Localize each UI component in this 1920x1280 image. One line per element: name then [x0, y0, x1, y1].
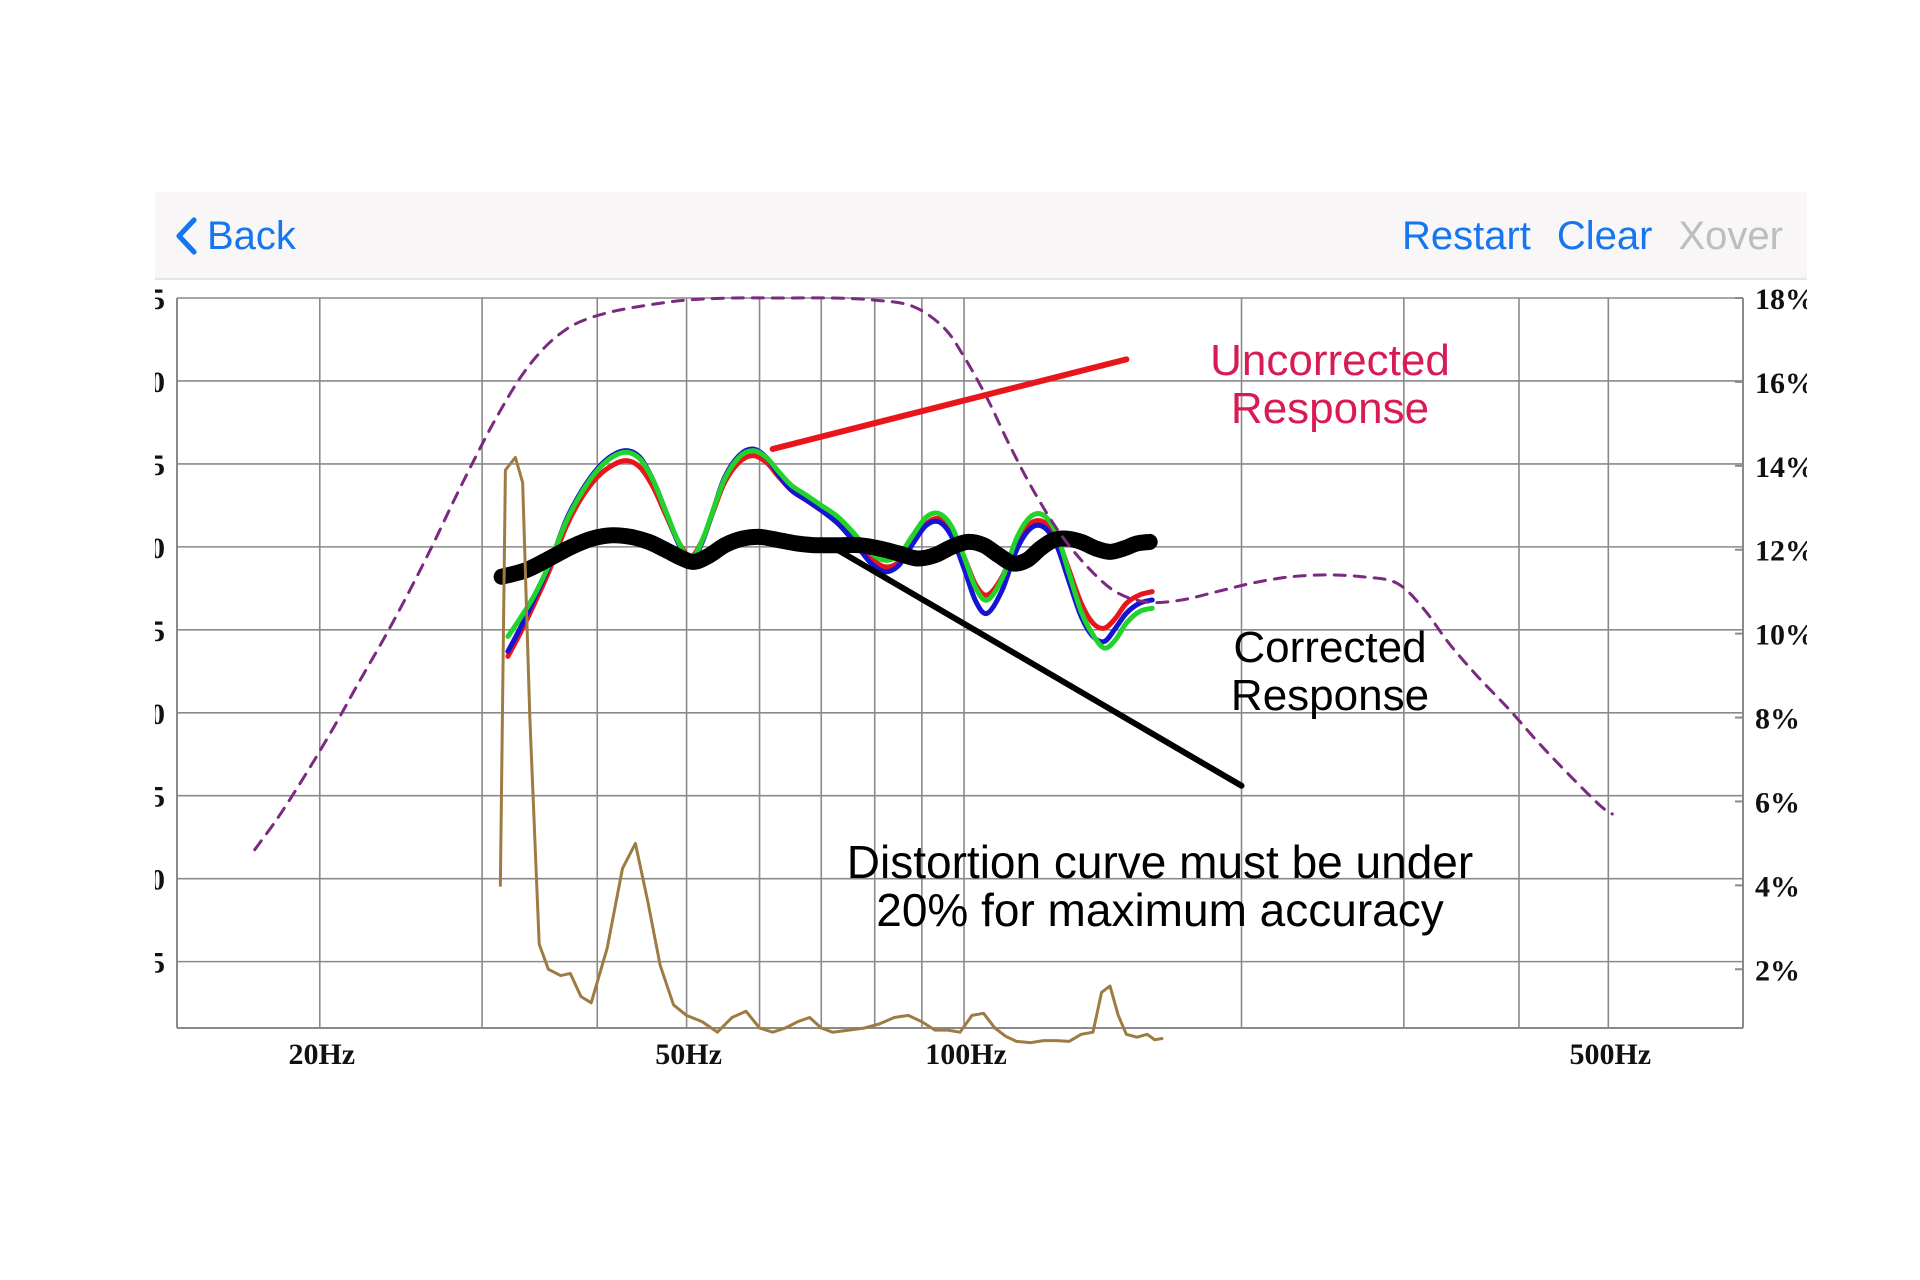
- y-axis-left-tick: 5: [155, 449, 165, 482]
- y-axis-right-tick: 18%: [1755, 283, 1807, 316]
- y-axis-right-tick: 6%: [1755, 786, 1800, 819]
- y-axis-right-tick: 14%: [1755, 451, 1807, 484]
- y-axis-right-tick: 8%: [1755, 703, 1800, 736]
- y-axis-left-tick: 10: [155, 366, 165, 399]
- x-axis-tick: 100Hz: [925, 1038, 1007, 1071]
- y-axis-left-tick: -10: [155, 698, 165, 731]
- x-axis-tick: 20Hz: [288, 1038, 355, 1071]
- y-axis-left-tick: -25: [155, 947, 165, 980]
- y-axis-left-tick: 15: [155, 283, 165, 316]
- back-button[interactable]: Back: [175, 192, 296, 280]
- series-corrected-response: [502, 535, 1150, 577]
- distortion-caption-line2: 20% for maximum accuracy: [876, 884, 1444, 936]
- uncorrected-response-label-line2: Response: [1231, 384, 1429, 433]
- chart-canvas: 151050-5-10-15-20-25 18%16%14%12%10%8%6%…: [155, 280, 1807, 1082]
- back-button-label: Back: [207, 216, 296, 256]
- audio-eq-screen: Back Restart Clear Xover 151050-5-10-15-…: [155, 192, 1807, 1082]
- y-axis-right-tick: 10%: [1755, 619, 1807, 652]
- navigation-bar: Back Restart Clear Xover: [155, 192, 1807, 280]
- corrected-response-label-line1: Corrected: [1233, 623, 1426, 672]
- x-axis-labels: 20Hz50Hz100Hz500Hz: [288, 1038, 1651, 1071]
- y-axis-left-labels: 151050-5-10-15-20-25: [155, 283, 165, 980]
- y-axis-left-tick: -15: [155, 781, 165, 814]
- clear-button[interactable]: Clear: [1557, 216, 1653, 256]
- x-axis-tick: 50Hz: [655, 1038, 722, 1071]
- y-axis-left-tick: -20: [155, 864, 165, 897]
- uncorrected-pointer: [773, 359, 1127, 449]
- y-axis-left-tick: -5: [155, 615, 165, 648]
- y-axis-left-tick: 0: [155, 532, 165, 565]
- x-axis-tick: 500Hz: [1569, 1038, 1651, 1071]
- xover-button[interactable]: Xover: [1679, 216, 1784, 256]
- distortion-caption-line1: Distortion curve must be under: [847, 836, 1473, 888]
- restart-button[interactable]: Restart: [1402, 216, 1531, 256]
- y-axis-right-tick: 2%: [1755, 954, 1800, 987]
- series-uncorrected-response-red-trace: [508, 456, 1152, 657]
- chevron-left-icon: [175, 217, 197, 255]
- y-axis-right-labels: 18%16%14%12%10%8%6%4%2%: [1735, 283, 1807, 987]
- frequency-response-chart: 151050-5-10-15-20-25 18%16%14%12%10%8%6%…: [155, 280, 1807, 1082]
- y-axis-right-tick: 4%: [1755, 870, 1800, 903]
- navbar-actions: Restart Clear Xover: [1402, 192, 1783, 280]
- uncorrected-response-label-line1: Uncorrected: [1210, 336, 1450, 385]
- y-axis-right-tick: 12%: [1755, 535, 1807, 568]
- corrected-response-label-line2: Response: [1231, 671, 1429, 720]
- y-axis-right-tick: 16%: [1755, 367, 1807, 400]
- corrected-pointer: [838, 550, 1241, 786]
